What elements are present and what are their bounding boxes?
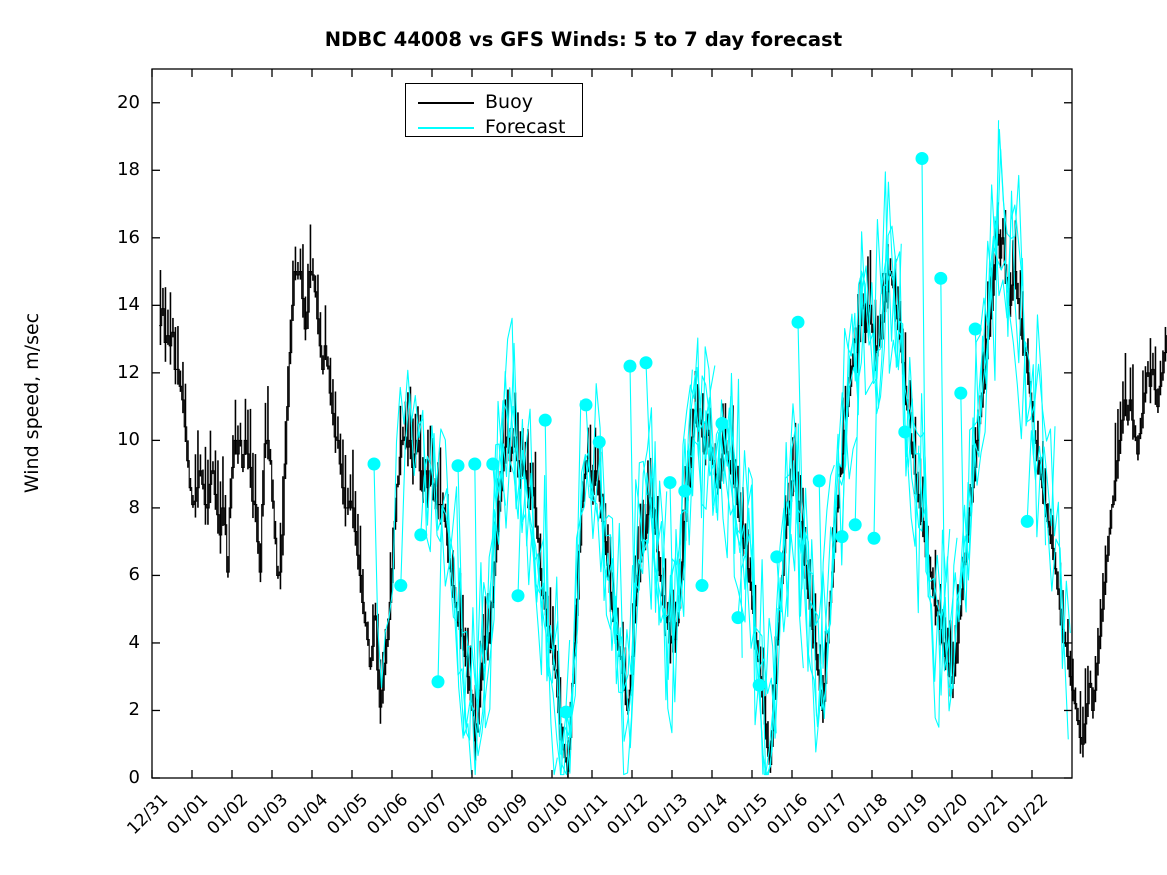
series-buoy	[159, 202, 1167, 778]
forecast-start-marker[interactable]	[539, 414, 552, 427]
forecast-trace	[401, 318, 517, 738]
legend-swatch-forecast	[418, 127, 474, 129]
y-tick-label: 12	[96, 362, 140, 383]
y-tick-label: 0	[96, 767, 140, 788]
y-tick-label: 14	[96, 294, 140, 315]
forecast-start-marker[interactable]	[640, 356, 653, 369]
y-tick-label: 4	[96, 632, 140, 653]
forecast-start-marker[interactable]	[512, 589, 525, 602]
forecast-start-marker[interactable]	[813, 474, 826, 487]
legend-label: Buoy	[485, 93, 533, 112]
forecast-start-marker[interactable]	[593, 436, 606, 449]
forecast-start-marker[interactable]	[716, 417, 729, 430]
legend-label: Forecast	[485, 118, 565, 137]
forecast-start-marker[interactable]	[732, 611, 745, 624]
legend-item-forecast[interactable]: Forecast	[418, 118, 565, 137]
forecast-start-marker[interactable]	[1021, 515, 1034, 528]
forecast-start-marker[interactable]	[664, 476, 677, 489]
forecast-start-marker[interactable]	[934, 272, 947, 285]
forecast-start-marker[interactable]	[580, 398, 593, 411]
forecast-start-marker[interactable]	[792, 316, 805, 329]
forecast-start-marker[interactable]	[916, 152, 929, 165]
forecast-start-marker[interactable]	[770, 550, 783, 563]
series-forecast	[374, 120, 1070, 774]
forecast-start-marker[interactable]	[836, 530, 849, 543]
forecast-trace	[819, 226, 919, 668]
forecast-start-marker[interactable]	[954, 387, 967, 400]
forecast-start-marker[interactable]	[394, 579, 407, 592]
forecast-trace	[842, 182, 928, 613]
chart-legend: BuoyForecast	[405, 83, 583, 137]
forecast-start-marker[interactable]	[560, 706, 573, 719]
forecast-trace	[1027, 431, 1068, 740]
forecast-start-marker[interactable]	[432, 675, 445, 688]
forecast-trace	[646, 338, 742, 679]
forecast-start-marker[interactable]	[452, 459, 465, 472]
forecast-start-marker[interactable]	[368, 458, 381, 471]
plot-area	[0, 0, 1167, 875]
y-tick-label: 10	[96, 429, 140, 450]
forecast-start-marker[interactable]	[753, 679, 766, 692]
y-tick-label: 18	[96, 159, 140, 180]
figure-canvas: NDBC 44008 vs GFS Winds: 5 to 7 day fore…	[0, 0, 1167, 875]
y-tick-label: 2	[96, 699, 140, 720]
legend-item-buoy[interactable]: Buoy	[418, 93, 533, 112]
forecast-start-marker[interactable]	[969, 322, 982, 335]
forecast-start-marker[interactable]	[898, 425, 911, 438]
forecast-start-marker[interactable]	[624, 360, 637, 373]
forecast-start-marker[interactable]	[486, 458, 499, 471]
forecast-trace	[702, 400, 803, 775]
forecast-start-marker[interactable]	[849, 518, 862, 531]
y-tick-label: 8	[96, 497, 140, 518]
y-tick-label: 6	[96, 564, 140, 585]
forecast-start-marker[interactable]	[468, 458, 481, 471]
legend-swatch-buoy	[418, 102, 474, 104]
forecast-start-marker[interactable]	[678, 485, 691, 498]
forecast-start-marker[interactable]	[414, 528, 427, 541]
y-tick-label: 16	[96, 227, 140, 248]
y-tick-label: 20	[96, 92, 140, 113]
forecast-start-marker[interactable]	[868, 532, 881, 545]
forecast-trace	[374, 370, 472, 774]
forecast-start-marker[interactable]	[696, 579, 709, 592]
